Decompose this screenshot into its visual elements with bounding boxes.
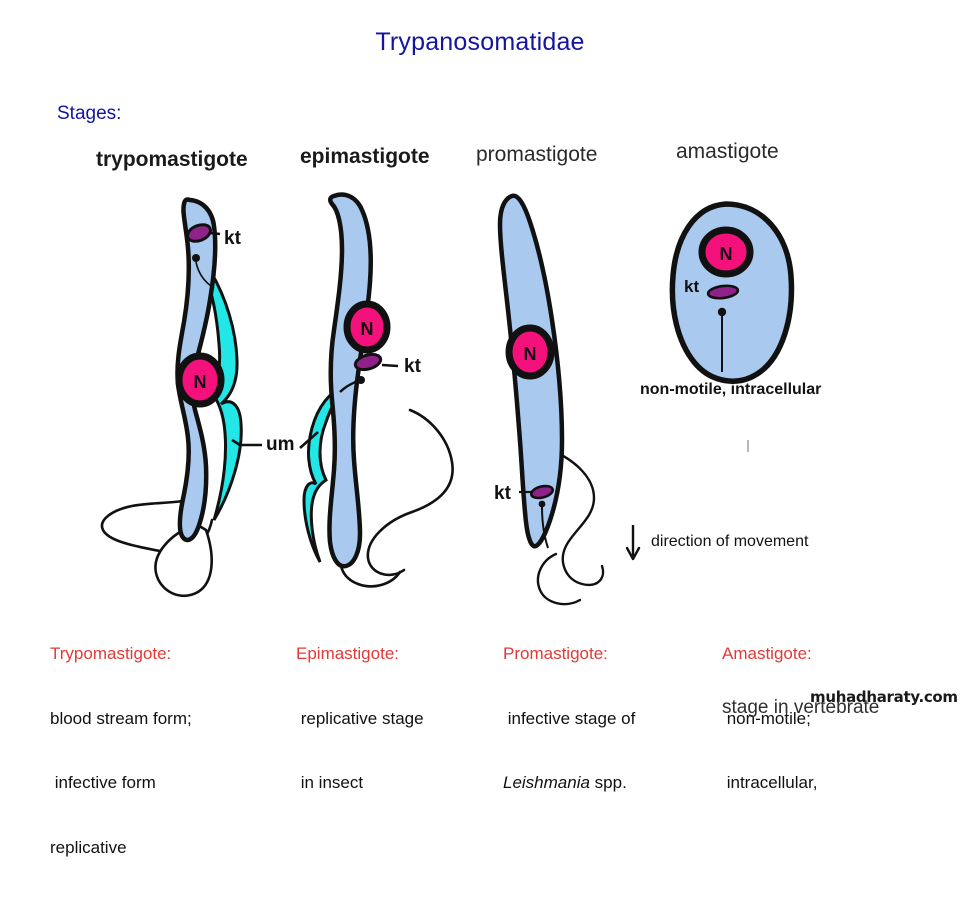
nucleus-letter-epimastigote: N	[361, 319, 374, 339]
caption-epimastigote: Epimastigote: replicative stage in insec…	[296, 600, 424, 837]
nucleus-letter-amastigote: N	[720, 244, 733, 264]
genus-name: Leishmania	[503, 773, 590, 792]
basal-body-amastigote	[718, 308, 726, 316]
label-kt-trypomastigote: kt	[224, 228, 241, 250]
flagellum-lobe-promastigote	[538, 554, 580, 604]
figure-amastigote: N	[672, 204, 791, 452]
leader-kt-trypomastigote	[210, 233, 220, 234]
figure-trypomastigote: N	[102, 199, 262, 595]
axoneme-trypomastigote	[196, 262, 211, 286]
caption-head-amastigote: Amastigote:	[722, 643, 817, 665]
slide-canvas: Trypanosomatidae Stages: trypomastigote …	[0, 0, 960, 720]
undulating-membrane-epimastigote	[304, 386, 348, 562]
nucleus-letter-promastigote: N	[524, 344, 537, 364]
caption-trypomastigote: Trypomastigote: blood stream form; infec…	[50, 600, 192, 901]
caption-line: infective form	[50, 772, 192, 794]
basal-body-trypomastigote	[192, 254, 200, 262]
label-um-trypomastigote: um	[266, 434, 295, 456]
caption-line: replicative stage	[296, 708, 424, 730]
label-kt-promastigote: kt	[494, 483, 511, 505]
basal-body-promastigote	[539, 501, 546, 508]
caption-line: infective stage of	[503, 708, 635, 730]
caption-promastigote: Promastigote: infective stage of Leishma…	[503, 600, 635, 837]
basal-body-epimastigote	[357, 376, 365, 384]
leader-um-hook-trypomastigote	[232, 440, 240, 445]
note-direction-of-movement: direction of movement	[651, 533, 808, 551]
note-non-motile-intracellular: non-motile, intracellular	[640, 381, 821, 399]
axoneme-epimastigote	[340, 381, 358, 392]
direction-arrow-icon	[627, 525, 639, 559]
cell-body-epimastigote	[329, 195, 370, 567]
nucleus-promastigote	[509, 328, 551, 376]
page-title: Trypanosomatidae	[0, 28, 960, 57]
flagellum-promastigote	[556, 452, 603, 585]
nucleus-letter-trypomastigote: N	[194, 372, 207, 392]
genus-suffix: spp.	[590, 773, 627, 792]
flagellum-lobe-epimastigote	[340, 550, 400, 586]
caption-line: intracellular,	[722, 772, 817, 794]
label-kt-amastigote: kt	[684, 277, 699, 297]
figure-epimastigote: N	[300, 195, 453, 587]
leader-kt-epimastigote	[382, 365, 398, 366]
kinetoplast-amastigote	[707, 284, 738, 300]
caption-line: in insect	[296, 772, 424, 794]
kinetoplast-trypomastigote	[185, 222, 213, 245]
caption-line: replicative	[50, 837, 192, 859]
flagellum-epimastigote	[368, 410, 453, 575]
flagellum-trypomastigote	[102, 498, 212, 552]
stage-heading-amastigote: amastigote	[676, 140, 779, 164]
cell-body-trypomastigote	[177, 199, 215, 539]
kinetoplast-epimastigote	[354, 352, 383, 373]
figure-promastigote: N	[500, 196, 639, 604]
stage-heading-epimastigote: epimastigote	[300, 145, 430, 169]
caption-line: blood stream form;	[50, 708, 192, 730]
caption-line-italic: Leishmania spp.	[503, 772, 635, 794]
caption-head-promastigote: Promastigote:	[503, 643, 635, 665]
watermark: muhadharaty.com	[810, 688, 958, 706]
undulating-membrane-trypomastigote	[205, 272, 241, 520]
kinetoplast-promastigote	[530, 484, 554, 500]
caption-head-epimastigote: Epimastigote:	[296, 643, 424, 665]
stage-heading-trypomastigote: trypomastigote	[96, 148, 248, 172]
caption-head-trypomastigote: Trypomastigote:	[50, 643, 192, 665]
stages-label: Stages:	[57, 103, 121, 125]
label-kt-epimastigote: kt	[404, 356, 421, 378]
stage-heading-promastigote: promastigote	[476, 143, 597, 167]
nucleus-trypomastigote	[179, 356, 221, 404]
flagellum-lobe-trypomastigote	[155, 524, 211, 596]
axoneme-promastigote	[542, 507, 548, 548]
nucleus-epimastigote	[347, 304, 387, 350]
nucleus-amastigote	[702, 230, 750, 274]
leader-um-epimastigote	[300, 432, 318, 448]
